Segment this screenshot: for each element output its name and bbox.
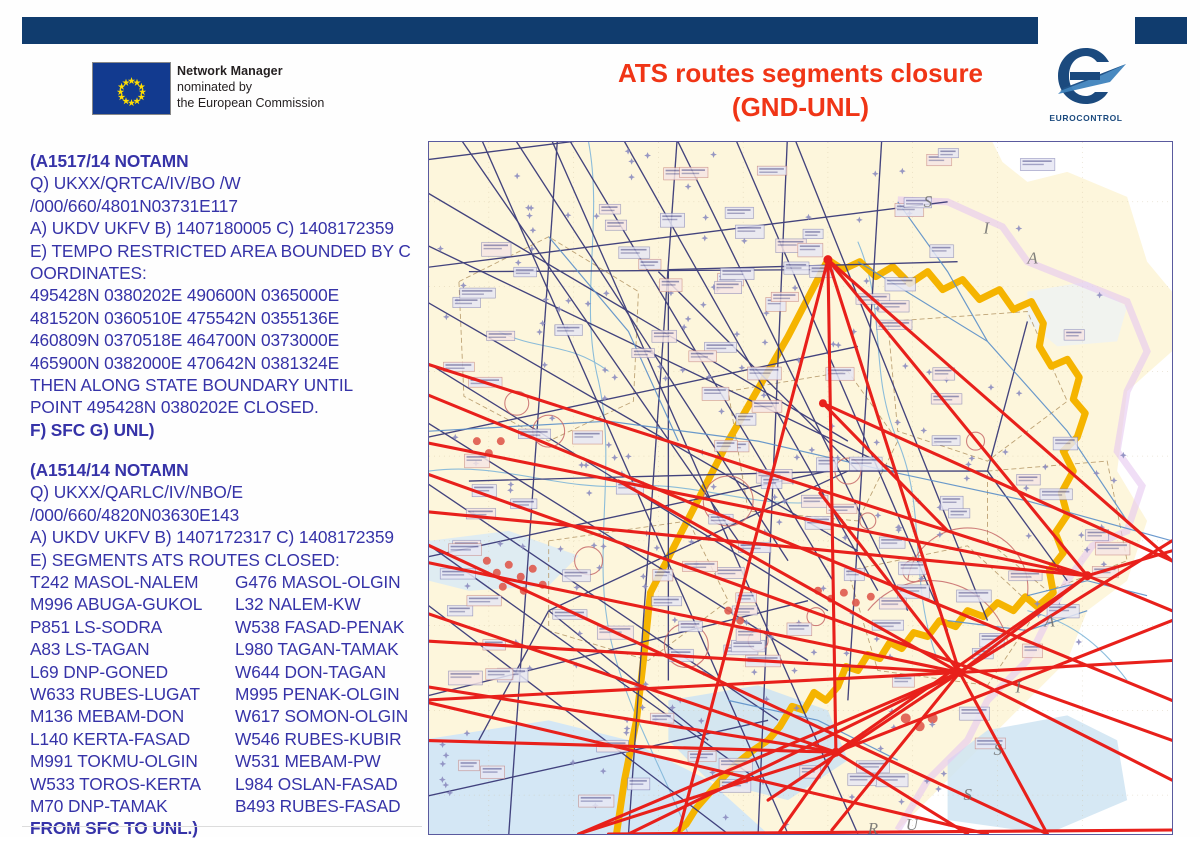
route-label-box <box>653 569 673 581</box>
segment-right: W531 MEBAM-PW <box>235 750 422 772</box>
route-label-box <box>465 454 490 468</box>
eurocontrol-wordmark: EUROCONTROL <box>1040 113 1132 123</box>
route-label-box <box>688 751 716 761</box>
segment-right: G476 MASOL-OLGIN <box>235 571 422 593</box>
segment-left: M996 ABUGA-GUKOL <box>30 593 235 615</box>
notam1-footer: F) SFC G) UNL) <box>30 419 422 441</box>
route-label-box <box>689 351 717 362</box>
segment-row: A83 LS-TAGANL980 TAGAN-TAMAK <box>30 638 422 660</box>
segment-right: L984 OSLAN-FASAD <box>235 773 422 795</box>
route-label-box <box>735 225 764 238</box>
eurocontrol-logo: EUROCONTROL <box>1040 42 1132 134</box>
notam1-line-6: 495428N 0380202E 490600N 0365000E <box>30 284 422 306</box>
route-label-box <box>1064 330 1084 340</box>
segment-row: L140 KERTA-FASADW546 RUBES-KUBIR <box>30 728 422 750</box>
route-label-box <box>899 562 927 575</box>
segment-left: W533 TOROS-KERTA <box>30 773 235 795</box>
route-label-box <box>787 623 812 636</box>
notam1-line-1: Q) UKXX/QRTCA/IV/BO /W <box>30 172 422 194</box>
route-label-box <box>1096 542 1130 555</box>
svg-text:S: S <box>964 785 973 804</box>
route-label-box <box>885 278 916 291</box>
notam2-line-0: (A1514/14 NOTAMN <box>30 459 422 481</box>
segment-row: M70 DNP-TAMAKB493 RUBES-FASAD <box>30 795 422 817</box>
route-label-box <box>736 414 756 426</box>
route-label-box <box>449 544 482 556</box>
svg-text:S: S <box>924 192 933 211</box>
route-label-box <box>486 669 513 680</box>
route-label-box <box>1040 489 1072 500</box>
route-label-box <box>448 671 482 685</box>
route-label-box <box>752 400 782 412</box>
route-label-box <box>459 760 480 770</box>
route-label-box <box>1021 158 1055 170</box>
notam1-line-0: (A1517/14 NOTAMN <box>30 150 422 172</box>
route-label-box <box>816 458 837 472</box>
route-label-box <box>680 167 708 177</box>
segment-left: M136 MEBAM-DON <box>30 705 235 727</box>
route-label-box <box>716 567 745 578</box>
segment-row: W533 TOROS-KERTAL984 OSLAN-FASAD <box>30 773 422 795</box>
notam1-line-7: 481520N 0360510E 475542N 0355136E <box>30 307 422 329</box>
notam2-line-3: A) UKDV UKFV B) 1407172317 C) 1408172359 <box>30 526 422 548</box>
notam-block-a1517: (A1517/14 NOTAMN Q) UKXX/QRTCA/IV/BO /W … <box>30 150 422 441</box>
svg-text:U: U <box>906 815 920 834</box>
route-label-box <box>579 795 614 807</box>
route-label-box <box>563 570 591 582</box>
notam1-line-9: 465900N 0382000E 470642N 0381324E <box>30 352 422 374</box>
route-label-box <box>748 367 782 380</box>
route-label-box <box>487 331 515 340</box>
segment-left: A83 LS-TAGAN <box>30 638 235 660</box>
notam1-line-10: THEN ALONG STATE BOUNDARY UNTIL <box>30 374 422 396</box>
svg-text:A: A <box>1043 612 1055 631</box>
notam1-line-2: /000/660/4801N03731E117 <box>30 195 422 217</box>
route-label-box <box>803 229 823 238</box>
notam2-line-1: Q) UKXX/QARLC/IV/NBO/E <box>30 481 422 503</box>
eu-flag-icon <box>92 62 171 115</box>
network-manager-caption: Network Manager nominated by the Europea… <box>177 63 417 111</box>
bottom-divider <box>22 826 422 827</box>
segment-left: W633 RUBES-LUGAT <box>30 683 235 705</box>
route-label-box <box>639 259 661 269</box>
route-label-box <box>467 596 501 606</box>
route-label-box <box>771 292 798 301</box>
segment-right: M995 PENAK-OLGIN <box>235 683 422 705</box>
route-label-box <box>715 281 742 293</box>
route-label-box <box>481 766 505 779</box>
nm-line-2: nominated by <box>177 79 417 95</box>
route-label-box <box>719 758 752 771</box>
segment-row: M136 MEBAM-DONW617 SOMON-OLGIN <box>30 705 422 727</box>
notam1-line-8: 460809N 0370518E 464700N 0373000E <box>30 329 422 351</box>
route-label-box <box>460 288 496 298</box>
notam2-footer: FROM SFC TO UNL.) <box>30 817 422 839</box>
segment-left: T242 MASOL-NALEM <box>30 571 235 593</box>
route-label-box <box>784 262 809 274</box>
notam2-line-2: /000/660/4820N03630E143 <box>30 504 422 526</box>
top-banner-bar-left <box>22 17 1038 44</box>
route-label-box <box>660 279 682 292</box>
route-label-box <box>941 496 964 510</box>
segment-right: B493 RUBES-FASAD <box>235 795 422 817</box>
notam-text-column: (A1517/14 NOTAMN Q) UKXX/QRTCA/IV/BO /W … <box>30 150 422 858</box>
route-label-box <box>514 267 537 277</box>
route-label-box <box>482 243 511 257</box>
segment-right: W546 RUBES-KUBIR <box>235 728 422 750</box>
route-label-box <box>720 268 754 279</box>
route-label-box <box>757 166 787 175</box>
segment-left: L69 DNP-GONED <box>30 661 235 683</box>
segment-left: M991 TOKMU-OLGIN <box>30 750 235 772</box>
route-label-box <box>715 440 738 451</box>
route-label-box <box>652 597 682 606</box>
route-label-box <box>679 621 703 631</box>
route-label-box <box>938 148 958 157</box>
route-label-box <box>660 213 684 227</box>
segment-row: M996 ABUGA-GUKOLL32 NALEM-KW <box>30 593 422 615</box>
route-label-box <box>798 243 823 256</box>
notam-block-a1514: (A1514/14 NOTAMN Q) UKXX/QARLC/IV/NBO/E … <box>30 459 422 840</box>
route-label-box <box>573 431 603 444</box>
notam1-line-3: A) UKDV UKFV B) 1407180005 C) 1408172359 <box>30 217 422 239</box>
route-label-box <box>619 247 650 259</box>
svg-text:A: A <box>1026 249 1038 268</box>
route-label-box <box>1017 474 1041 485</box>
nm-line-1: Network Manager <box>177 63 417 79</box>
route-label-box <box>453 297 481 307</box>
route-label-box <box>731 640 765 651</box>
notam1-line-11: POINT 495428N 0380202E CLOSED. <box>30 396 422 418</box>
route-label-box <box>1053 437 1078 450</box>
route-label-box <box>605 220 626 230</box>
nm-line-3: the European Commission <box>177 95 417 111</box>
segment-row: P851 LS-SODRAW538 FASAD-PENAK <box>30 616 422 638</box>
segment-right: W644 DON-TAGAN <box>235 661 422 683</box>
route-label-box <box>555 325 582 336</box>
route-label-box <box>930 245 954 258</box>
svg-text:S: S <box>993 740 1002 759</box>
notam1-line-5: OORDINATES: <box>30 262 422 284</box>
segment-right: L980 TAGAN-TAMAK <box>235 638 422 660</box>
route-label-box <box>949 509 970 518</box>
segment-row: W633 RUBES-LUGATM995 PENAK-OLGIN <box>30 683 422 705</box>
closed-segments-list: T242 MASOL-NALEMG476 MASOL-OLGINM996 ABU… <box>30 571 422 817</box>
segment-left: P851 LS-SODRA <box>30 616 235 638</box>
route-label-box <box>702 387 729 400</box>
notam2-line-4: E) SEGMENTS ATS ROUTES CLOSED: <box>30 549 422 571</box>
route-label-box <box>957 590 992 602</box>
segment-right: W538 FASAD-PENAK <box>235 616 422 638</box>
segment-row: T242 MASOL-NALEMG476 MASOL-OLGIN <box>30 571 422 593</box>
notam1-line-4: E) TEMPO RESTRICTED AREA BOUNDED BY C <box>30 240 422 262</box>
segment-right: W617 SOMON-OLGIN <box>235 705 422 727</box>
route-label-box <box>599 204 620 214</box>
segment-left: L140 KERTA-FASAD <box>30 728 235 750</box>
segment-left: M70 DNP-TAMAK <box>30 795 235 817</box>
svg-text:R: R <box>867 819 879 834</box>
route-label-box <box>932 436 960 446</box>
route-label-box <box>725 207 753 218</box>
segment-row: M991 TOKMU-OLGINW531 MEBAM-PW <box>30 750 422 772</box>
route-label-box <box>652 330 677 342</box>
segment-row: L69 DNP-GONEDW644 DON-TAGAN <box>30 661 422 683</box>
segment-right: L32 NALEM-KW <box>235 593 422 615</box>
route-label-box <box>632 349 655 358</box>
enroute-chart-map[interactable]: S I A A I S S U R <box>428 141 1173 835</box>
route-label-box <box>447 606 473 616</box>
top-banner-bar-right <box>1135 17 1187 44</box>
route-label-box <box>628 778 650 790</box>
